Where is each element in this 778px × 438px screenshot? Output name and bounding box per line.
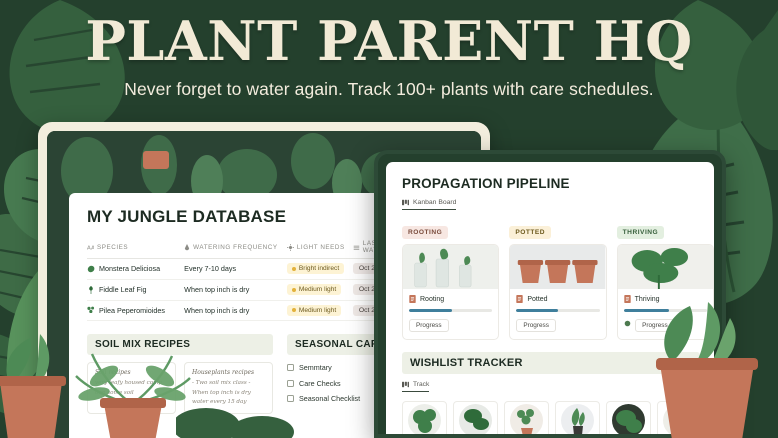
- light-badge: Medium light: [287, 305, 341, 316]
- plant-thumbnail: [459, 404, 492, 434]
- badge-dot-icon: [292, 288, 296, 292]
- poster-canvas: PLANT PARENT HQ Never forget to water ag…: [0, 0, 778, 438]
- soil-note-row: Soil recipes very leafy housed comp den …: [87, 362, 273, 414]
- progress-tag[interactable]: Progress: [409, 319, 449, 332]
- kanban-card[interactable]: Potted Progress: [509, 244, 606, 340]
- plant-thumbnail: [663, 404, 696, 434]
- kanban-column-potted: POTTED: [509, 221, 606, 340]
- sun-icon: [287, 244, 294, 251]
- column-header-species[interactable]: Aa SPECIES: [87, 240, 184, 254]
- plant-thumbnail: [510, 404, 543, 434]
- list-item[interactable]: Care Checks: [287, 379, 360, 388]
- list-item[interactable]: [402, 401, 447, 434]
- progress-fill: [409, 309, 452, 312]
- progress-fill: [624, 309, 670, 312]
- list-item[interactable]: [504, 401, 549, 434]
- plant-thumbnail: [561, 404, 594, 434]
- document-icon: [624, 295, 631, 303]
- cell-watering: When top inch is dry: [184, 285, 287, 294]
- wishlist-plant-3: [510, 404, 543, 434]
- card-body: Potted Progress: [510, 289, 605, 339]
- cell-light: Bright indirect: [287, 263, 353, 274]
- wishlist-plant-1: [408, 404, 441, 434]
- tab-track[interactable]: Track: [402, 381, 429, 392]
- card-photo-rooting: [403, 245, 498, 289]
- text-property-icon: Aa: [87, 244, 94, 251]
- kanban-card[interactable]: Rooting Progress: [402, 244, 499, 340]
- header: PLANT PARENT HQ Never forget to water ag…: [0, 14, 778, 100]
- card-photo-potted: [510, 245, 605, 289]
- cell-light: Medium light: [287, 305, 353, 316]
- wishlist-plant-4: [561, 404, 594, 434]
- badge-dot-icon: [292, 267, 296, 271]
- cell-species: Monstera Deliciosa: [87, 264, 184, 273]
- table-row[interactable]: Pilea Peperomioides When top inch is dry…: [87, 301, 417, 322]
- checkbox-icon[interactable]: [287, 364, 294, 371]
- list-item[interactable]: Seasonal Checklist: [287, 394, 360, 403]
- wishlist-plant-5: [612, 404, 645, 434]
- cell-species: Pilea Peperomioides: [87, 306, 184, 315]
- document-icon: [516, 295, 523, 303]
- card-body: Thriving Progress: [618, 289, 713, 339]
- wishlist-thumbnail-row: [402, 401, 714, 434]
- svg-text:Aa: Aa: [87, 245, 94, 250]
- column-header-light[interactable]: LIGHT NEEDS: [287, 240, 353, 254]
- board-icon: [402, 199, 409, 206]
- document-icon: [409, 295, 416, 303]
- kanban-column-label: THRIVING: [617, 226, 665, 239]
- card-title-row: Thriving: [624, 295, 707, 303]
- checkbox-icon[interactable]: [287, 380, 294, 387]
- tablet-screen: PROPAGATION PIPELINE Kanban Board ROOTIN…: [386, 162, 714, 434]
- progress-tag[interactable]: Progress: [635, 319, 675, 332]
- kanban-columns: ROOTING: [402, 221, 714, 340]
- column-header-watering[interactable]: WATERING FREQUENCY: [184, 240, 287, 254]
- badge-dot-icon: [292, 308, 296, 312]
- tab-kanban-board[interactable]: Kanban Board: [402, 199, 456, 210]
- list-item[interactable]: Semmtary: [287, 363, 360, 372]
- plant-thumbnail: [612, 404, 645, 434]
- cell-watering: When top inch is dry: [184, 306, 287, 315]
- progress-bar: [516, 309, 599, 312]
- list-item[interactable]: [657, 401, 702, 434]
- propagation-jars-illustration: [403, 245, 498, 289]
- kanban-column-rooting: ROOTING: [402, 221, 499, 340]
- plant-database-table: Aa SPECIES WATERING FREQUENCY LIGHT NEED…: [87, 240, 417, 321]
- wishlist-title: WISHLIST TRACKER: [402, 352, 700, 374]
- droplet-icon: [184, 244, 190, 251]
- list-icon: [353, 244, 360, 251]
- plant-thumbnail: [408, 404, 441, 434]
- fiddle-leaf-fig-icon: [87, 286, 95, 294]
- card-photo-thriving: [618, 245, 713, 289]
- kanban-column-label: POTTED: [509, 226, 551, 239]
- note-card[interactable]: Houseplants recipes - Two soil mix class…: [184, 362, 273, 414]
- note-card[interactable]: Soil recipes very leafy housed comp den …: [87, 362, 176, 414]
- card-title-row: Potted: [516, 295, 599, 303]
- cell-watering: Every 7-10 days: [184, 264, 287, 273]
- tablet-device: PROPAGATION PIPELINE Kanban Board ROOTIN…: [374, 150, 726, 438]
- table-header-row: Aa SPECIES WATERING FREQUENCY LIGHT NEED…: [87, 240, 417, 259]
- kanban-column-label: ROOTING: [402, 226, 448, 239]
- checklist-column-one: Semmtary Care Checks Seasonal Checklist: [287, 363, 360, 410]
- list-item[interactable]: [453, 401, 498, 434]
- wishlist-plant-6: [663, 404, 696, 434]
- soil-mix-panel: SOIL MIX RECIPES Soil recipes very leafy…: [87, 334, 273, 414]
- terracotta-pots-illustration: [510, 245, 605, 289]
- progress-bar: [409, 309, 492, 312]
- page-subtitle: Never forget to water again. Track 100+ …: [0, 79, 778, 100]
- cell-species: Fiddle Leaf Fig: [87, 285, 184, 294]
- list-item[interactable]: [606, 401, 651, 434]
- kanban-card[interactable]: Thriving Progress: [617, 244, 714, 340]
- plant-mini-icon: [624, 320, 631, 327]
- monstera-plant-icon: [87, 265, 95, 273]
- progress-tag[interactable]: Progress: [516, 319, 556, 332]
- propagation-title: PROPAGATION PIPELINE: [402, 176, 714, 191]
- kanban-column-thriving: THRIVING: [617, 221, 714, 340]
- card-body: Rooting Progress: [403, 289, 498, 339]
- soil-mix-title: SOIL MIX RECIPES: [87, 334, 273, 355]
- table-row[interactable]: Monstera Deliciosa Every 7-10 days Brigh…: [87, 259, 417, 280]
- pilea-plant-icon: [87, 306, 95, 314]
- board-icon: [402, 381, 409, 388]
- light-badge: Medium light: [287, 284, 341, 295]
- light-badge: Bright indirect: [287, 263, 344, 274]
- wishlist-plant-2: [459, 404, 492, 434]
- page-title: PLANT PARENT HQ: [0, 14, 778, 68]
- table-row[interactable]: Fiddle Leaf Fig When top inch is dry Med…: [87, 280, 417, 301]
- progress-fill: [516, 309, 558, 312]
- checkbox-icon[interactable]: [287, 395, 294, 402]
- progress-bar: [624, 309, 707, 312]
- list-item[interactable]: [555, 401, 600, 434]
- cell-light: Medium light: [287, 284, 353, 295]
- card-title-row: Rooting: [409, 295, 492, 303]
- thriving-plant-illustration: [618, 245, 713, 289]
